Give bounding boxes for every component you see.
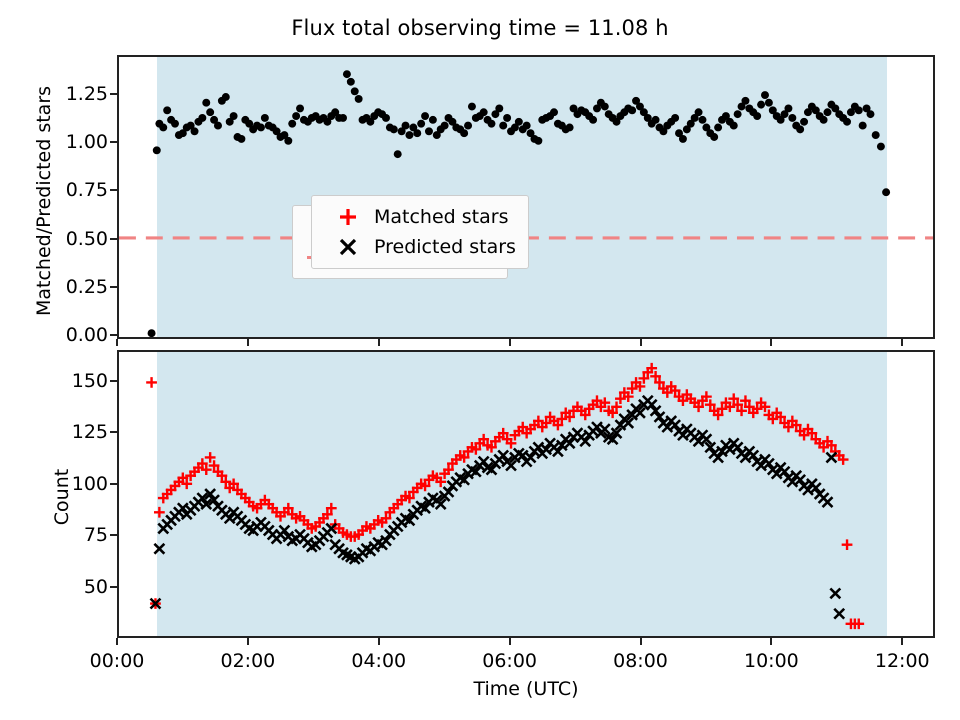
ytick-mark: [110, 380, 117, 382]
ytick-mark: [110, 141, 117, 143]
xtick-mark: [509, 638, 511, 645]
cross-marker-icon: [322, 236, 374, 258]
top-panel-ytick-labels: 0.000.250.500.751.001.25: [12, 55, 108, 339]
ytick-mark: [110, 586, 117, 588]
ytick-label: 0.25: [66, 276, 108, 298]
bottom-panel-tickmarks: [117, 350, 935, 638]
plus-marker-icon: [322, 206, 374, 228]
ytick-label: 150: [72, 370, 108, 392]
xtick-mark: [640, 339, 642, 346]
legend-item-predicted-stars[interactable]: Predicted stars: [322, 232, 516, 262]
ytick-label: 0.75: [66, 179, 108, 201]
xtick-label: 04:00: [351, 650, 406, 672]
legend-label-predicted-stars: Predicted stars: [374, 236, 516, 258]
bottom-panel-ylabel: Count: [51, 353, 73, 641]
ytick-mark: [110, 286, 117, 288]
ytick-mark: [110, 93, 117, 95]
xtick-label: 10:00: [744, 650, 799, 672]
ytick-label: 1.25: [66, 83, 108, 105]
xtick-mark: [116, 339, 118, 346]
xtick-label: 08:00: [613, 650, 668, 672]
xtick-label: 02:00: [220, 650, 275, 672]
xtick-label: 06:00: [482, 650, 537, 672]
top-panel-ylabel: Matched/Predicted stars: [33, 59, 55, 343]
legend-label-matched-stars: Matched stars: [374, 206, 508, 228]
xtick-mark: [509, 339, 511, 346]
xtick-mark: [640, 638, 642, 645]
xtick-mark: [901, 638, 903, 645]
ytick-label: 50: [84, 576, 108, 598]
xtick-label: 00:00: [90, 650, 145, 672]
legend-item-matched-stars[interactable]: Matched stars: [322, 202, 516, 232]
ytick-mark: [110, 334, 117, 336]
xtick-mark: [901, 339, 903, 346]
xtick-mark: [116, 638, 118, 645]
ytick-mark: [110, 431, 117, 433]
xtick-mark: [247, 638, 249, 645]
xtick-label: 12:00: [875, 650, 930, 672]
xtick-mark: [770, 339, 772, 346]
ytick-label: 0.00: [66, 324, 108, 346]
figure-container: Flux total observing time = 11.08 h 0.00…: [0, 0, 960, 720]
xtick-mark: [378, 339, 380, 346]
ytick-mark: [110, 483, 117, 485]
ytick-mark: [110, 238, 117, 240]
xaxis-label: Time (UTC): [117, 678, 935, 700]
bottom-panel-legend: Matched stars Predicted stars: [311, 195, 529, 269]
ytick-label: 100: [72, 473, 108, 495]
xtick-mark: [770, 638, 772, 645]
ytick-label: 1.00: [66, 131, 108, 153]
ytick-label: 125: [72, 421, 108, 443]
ytick-mark: [110, 534, 117, 536]
ytick-label: 0.50: [66, 228, 108, 250]
xtick-mark: [247, 339, 249, 346]
page-title: Flux total observing time = 11.08 h: [0, 16, 960, 40]
ytick-label: 75: [84, 524, 108, 546]
ytick-mark: [110, 189, 117, 191]
xtick-mark: [378, 638, 380, 645]
